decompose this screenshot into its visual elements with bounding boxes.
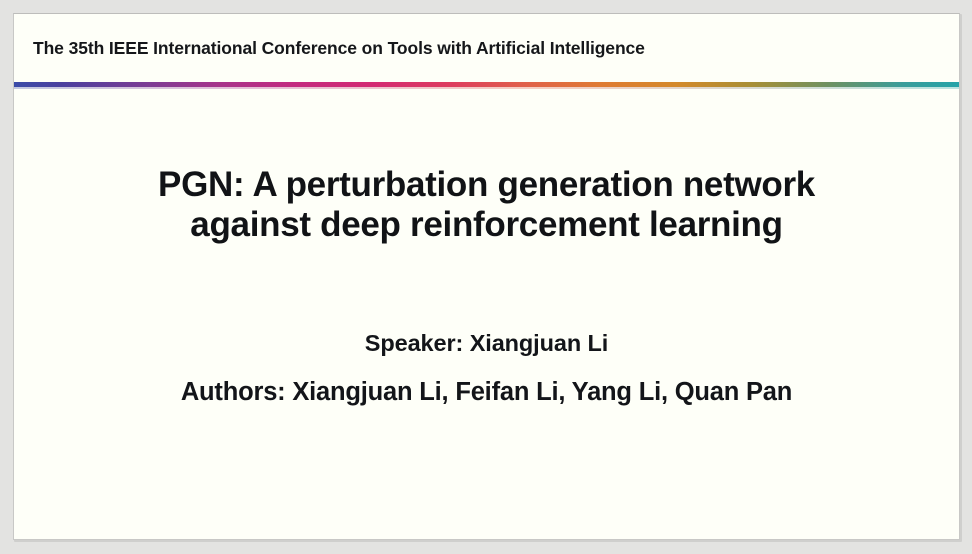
page-title-line-1: PGN: A perturbation generation network xyxy=(14,165,959,205)
conference-header: The 35th IEEE International Conference o… xyxy=(14,14,959,82)
page-title: PGN: A perturbation generation network a… xyxy=(14,165,959,245)
conference-name: The 35th IEEE International Conference o… xyxy=(14,38,645,59)
presentation-slide[interactable]: The 35th IEEE International Conference o… xyxy=(13,13,960,540)
page-title-line-2: against deep reinforcement learning xyxy=(14,205,959,245)
slide-body: PGN: A perturbation generation network a… xyxy=(14,89,959,540)
authors-label: Authors: Xiangjuan Li, Feifan Li, Yang L… xyxy=(14,378,959,407)
slide-viewer: The 35th IEEE International Conference o… xyxy=(0,0,972,554)
speaker-label: Speaker: Xiangjuan Li xyxy=(14,330,959,357)
